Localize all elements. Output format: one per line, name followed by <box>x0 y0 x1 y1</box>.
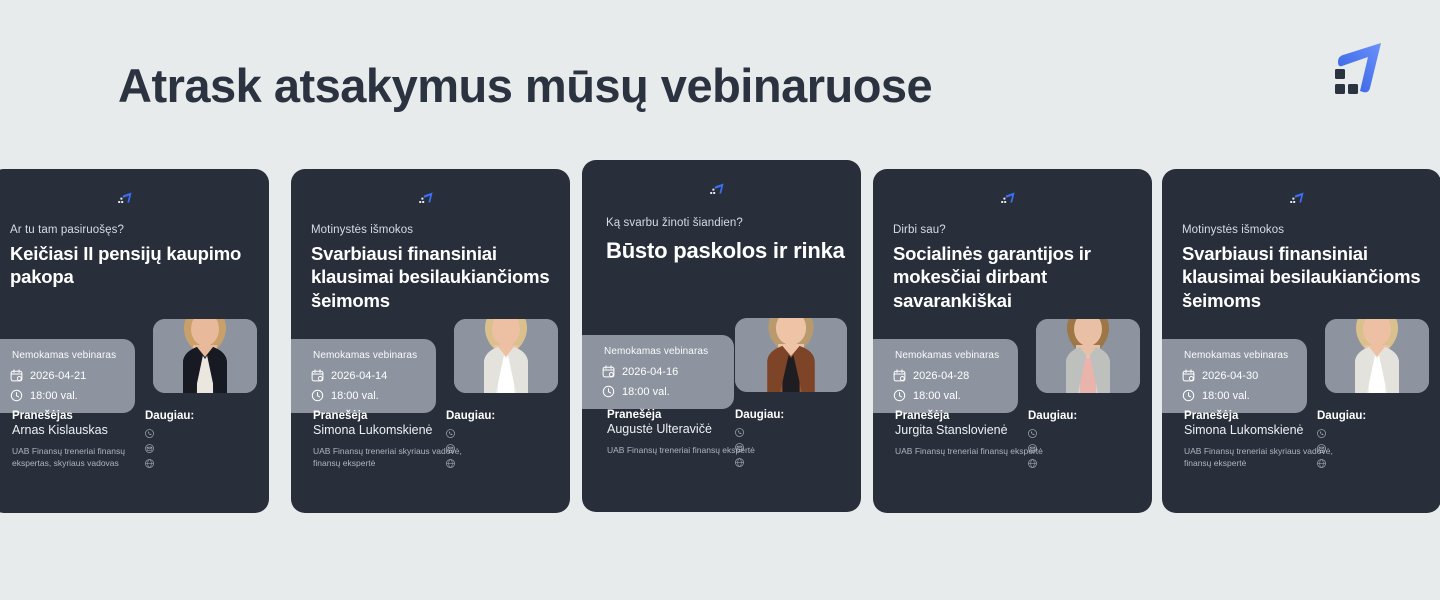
contact-phone[interactable] <box>735 428 845 437</box>
portrait-illustration <box>735 292 847 392</box>
speaker-block: Pranešėjas Arnas Kislauskas UAB Finansų … <box>12 410 162 470</box>
card-headline: Būsto paskolos ir rinka <box>606 238 845 264</box>
card-brand-logo <box>291 191 570 206</box>
card-brand-logo <box>0 191 269 206</box>
contact-block: Daugiau: <box>446 410 556 474</box>
more-title: Daugiau: <box>1317 410 1427 422</box>
webinar-date: 2026-04-16 <box>622 366 678 378</box>
speaker-name: Simona Lukomskienė <box>1184 423 1334 437</box>
calendar-icon <box>10 369 23 382</box>
contact-website[interactable] <box>145 459 255 468</box>
speaker-photo <box>1036 293 1140 393</box>
webinar-time: 18:00 val. <box>622 386 670 398</box>
globe-icon <box>1317 459 1326 468</box>
email-icon <box>735 443 744 452</box>
webinar-date-row: 2026-04-16 <box>602 365 678 378</box>
contact-email[interactable] <box>1028 444 1138 453</box>
speaker-organisation: UAB Finansų treneriai skyriaus vadovė, f… <box>313 446 463 470</box>
webinar-card-2[interactable]: Motinystės išmokos Svarbiausi finansinia… <box>291 169 570 513</box>
speaker-block: Pranešėja Simona Lukomskienė UAB Finansų… <box>1184 410 1334 470</box>
more-title: Daugiau: <box>735 409 845 421</box>
free-webinar-label: Nemokamas vebinaras <box>313 350 417 361</box>
free-webinar-label: Nemokamas vebinaras <box>12 350 116 361</box>
webinar-card-1[interactable]: Ar tu tam pasiruošęs? Keičiasi II pensij… <box>0 169 269 513</box>
more-title: Daugiau: <box>446 410 556 422</box>
speaker-block: Pranešėja Jurgita Stanslovienė UAB Finan… <box>895 410 1045 458</box>
contact-phone[interactable] <box>145 429 255 438</box>
card-footer: Pranešėja Simona Lukomskienė UAB Finansų… <box>291 398 570 513</box>
page-title: Atrask atsakymus mūsų vebinaruose <box>118 58 932 113</box>
contact-website[interactable] <box>735 458 845 467</box>
speaker-organisation: UAB Finansų treneriai finansų ekspertas,… <box>12 446 162 470</box>
speaker-photo <box>1325 293 1429 393</box>
speaker-name: Jurgita Stanslovienė <box>895 423 1045 437</box>
fintre-arrow-mark-icon <box>710 182 726 197</box>
email-icon <box>1028 444 1037 453</box>
globe-icon <box>145 459 154 468</box>
card-footer: Pranešėjas Arnas Kislauskas UAB Finansų … <box>0 398 269 513</box>
webinar-carousel[interactable]: Ar tu tam pasiruošęs? Keičiasi II pensij… <box>0 160 1440 520</box>
speaker-role: Pranešėja <box>895 410 1045 422</box>
contact-block: Daugiau: <box>735 409 845 473</box>
contact-block: Daugiau: <box>145 410 255 474</box>
card-brand-logo <box>873 191 1152 206</box>
contact-website[interactable] <box>1317 459 1427 468</box>
webinar-date-row: 2026-04-28 <box>893 369 969 382</box>
speaker-photo <box>735 292 847 392</box>
more-title: Daugiau: <box>1028 410 1138 422</box>
card-kicker: Ką svarbu žinoti šiandien? <box>606 217 843 229</box>
card-kicker: Motinystės išmokos <box>311 224 552 236</box>
webinar-date: 2026-04-28 <box>913 370 969 382</box>
speaker-photo <box>454 293 558 393</box>
webinar-date: 2026-04-30 <box>1202 370 1258 382</box>
fintre-arrow-mark-icon <box>1290 191 1306 206</box>
contact-email[interactable] <box>446 444 556 453</box>
speaker-organisation: UAB Finansų treneriai finansų ekspertė <box>895 446 1045 458</box>
globe-icon <box>446 459 455 468</box>
webinar-date-row: 2026-04-21 <box>10 369 86 382</box>
speaker-role: Pranešėja <box>1184 410 1334 422</box>
speaker-photo <box>153 293 257 393</box>
email-icon <box>145 444 154 453</box>
phone-icon <box>446 429 455 438</box>
globe-icon <box>735 458 744 467</box>
contact-block: Daugiau: <box>1028 410 1138 474</box>
calendar-icon <box>1182 369 1195 382</box>
contact-email[interactable] <box>735 443 845 452</box>
email-icon <box>1317 444 1326 453</box>
card-kicker: Dirbi sau? <box>893 224 1134 236</box>
contact-phone[interactable] <box>446 429 556 438</box>
webinar-card-3[interactable]: Ką svarbu žinoti šiandien? Būsto paskolo… <box>582 160 861 512</box>
card-footer: Pranešėja Augustė Ulteravičė UAB Finansų… <box>582 397 861 512</box>
speaker-organisation: UAB Finansų treneriai skyriaus vadovė, f… <box>1184 446 1334 470</box>
phone-icon <box>145 429 154 438</box>
card-headline: Keičiasi II pensijų kaupimo pakopa <box>10 242 253 289</box>
speaker-name: Simona Lukomskienė <box>313 423 463 437</box>
contact-email[interactable] <box>1317 444 1427 453</box>
fintre-arrow-logo-icon <box>1322 40 1392 106</box>
card-footer: Pranešėja Jurgita Stanslovienė UAB Finan… <box>873 398 1152 513</box>
webinar-landing-page: Atrask atsakymus mūsų vebinaruose <box>0 0 1440 600</box>
webinar-card-5[interactable]: Motinystės išmokos Svarbiausi finansinia… <box>1162 169 1440 513</box>
card-brand-logo <box>1162 191 1440 206</box>
card-kicker: Ar tu tam pasiruošęs? <box>10 224 251 236</box>
webinar-date-row: 2026-04-14 <box>311 369 387 382</box>
contact-website[interactable] <box>446 459 556 468</box>
calendar-icon <box>311 369 324 382</box>
contact-website[interactable] <box>1028 459 1138 468</box>
fintre-arrow-mark-icon <box>118 191 134 206</box>
webinar-date: 2026-04-21 <box>30 370 86 382</box>
portrait-illustration <box>153 293 257 393</box>
speaker-block: Pranešėja Simona Lukomskienė UAB Finansų… <box>313 410 463 470</box>
contact-phone[interactable] <box>1317 429 1427 438</box>
more-title: Daugiau: <box>145 410 255 422</box>
free-webinar-label: Nemokamas vebinaras <box>895 350 999 361</box>
contact-phone[interactable] <box>1028 429 1138 438</box>
contact-block: Daugiau: <box>1317 410 1427 474</box>
portrait-illustration <box>454 293 558 393</box>
page-header: Atrask atsakymus mūsų vebinaruose <box>0 0 1440 165</box>
speaker-role: Pranešėjas <box>12 410 162 422</box>
phone-icon <box>1028 429 1037 438</box>
card-footer: Pranešėja Simona Lukomskienė UAB Finansų… <box>1162 398 1440 513</box>
webinar-card-4[interactable]: Dirbi sau? Socialinės garantijos ir moke… <box>873 169 1152 513</box>
webinar-date: 2026-04-14 <box>331 370 387 382</box>
speaker-role: Pranešėja <box>313 410 463 422</box>
calendar-icon <box>602 365 615 378</box>
free-webinar-label: Nemokamas vebinaras <box>604 346 708 357</box>
fintre-arrow-mark-icon <box>419 191 435 206</box>
speaker-name: Arnas Kislauskas <box>12 423 162 437</box>
phone-icon <box>735 428 744 437</box>
card-kicker: Motinystės išmokos <box>1182 224 1423 236</box>
email-icon <box>446 444 455 453</box>
globe-icon <box>1028 459 1037 468</box>
fintre-arrow-mark-icon <box>1001 191 1017 206</box>
free-webinar-label: Nemokamas vebinaras <box>1184 350 1288 361</box>
contact-email[interactable] <box>145 444 255 453</box>
calendar-icon <box>893 369 906 382</box>
webinar-date-row: 2026-04-30 <box>1182 369 1258 382</box>
card-brand-logo <box>582 182 861 197</box>
phone-icon <box>1317 429 1326 438</box>
portrait-illustration <box>1036 293 1140 393</box>
portrait-illustration <box>1325 293 1429 393</box>
